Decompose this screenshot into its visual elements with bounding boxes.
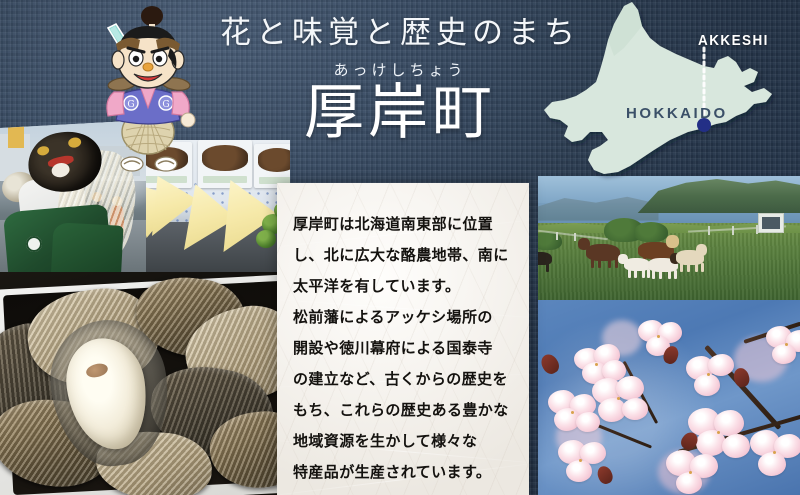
description-text: 厚岸町は北海道南東部に位置 し、北に広大な酪農地帯、南に 太平洋を有しています。…	[293, 209, 515, 488]
photo-pasture-horses	[538, 176, 800, 300]
hokkaido-island-shape	[544, 2, 772, 174]
photo-cherry-blossoms	[538, 300, 800, 495]
svg-text:G: G	[127, 100, 134, 110]
mascot-feet	[121, 157, 177, 171]
banner-canvas: HOKKAIDO AKKESHI 花と味覚と歴史のまち あっけしちょう 厚岸町	[0, 0, 800, 495]
mascot-svg: G G	[88, 4, 208, 180]
map-region-label: HOKKAIDO	[626, 105, 728, 122]
mascot-character: G G	[88, 4, 208, 180]
hokkaido-map-svg	[538, 0, 800, 182]
photo-oysters	[0, 272, 290, 495]
description-panel: 厚岸町は北海道南東部に位置 し、北に広大な酪農地帯、南に 太平洋を有しています。…	[277, 183, 529, 495]
hokkaido-map: HOKKAIDO AKKESHI	[538, 0, 800, 182]
svg-text:G: G	[162, 100, 169, 110]
map-marker-label: AKKESHI	[698, 32, 769, 49]
